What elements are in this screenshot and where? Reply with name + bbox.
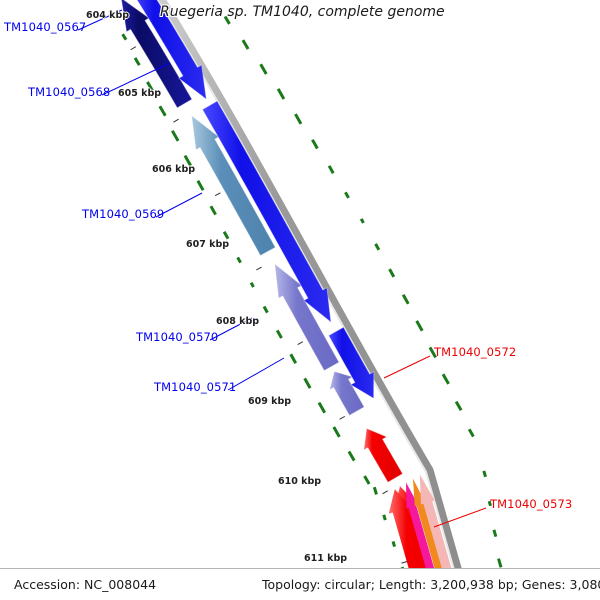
feature-dash xyxy=(319,403,325,413)
feature-dash xyxy=(484,471,486,477)
feature-dash xyxy=(305,378,310,388)
feature-dash xyxy=(295,114,301,124)
feature-dash xyxy=(251,283,253,287)
feature-dash xyxy=(211,206,216,214)
scale-tick xyxy=(340,416,345,419)
feature-dash xyxy=(312,140,317,149)
gene-label-tm1040_0568[interactable]: TM1040_0568 xyxy=(28,85,110,99)
page-title: Ruegeria sp. TM1040, complete genome xyxy=(160,4,445,20)
gene-label-tm1040_0571[interactable]: TM1040_0571 xyxy=(154,380,236,394)
feature-dash xyxy=(499,559,501,568)
gene-track-outer[interactable] xyxy=(121,0,470,600)
scale-tick-label: 604 kbp xyxy=(86,10,129,21)
status-bar: Accession: NC_008044 Topology: circular;… xyxy=(0,568,600,600)
feature-dash xyxy=(160,106,166,116)
feature-dash xyxy=(443,374,449,384)
feature-dash xyxy=(123,34,126,40)
feature-dash xyxy=(393,541,394,546)
feature-dash xyxy=(198,181,203,190)
feature-dash xyxy=(243,40,248,49)
feature-dash xyxy=(261,64,267,74)
feature-dash xyxy=(374,487,376,494)
feature-dash xyxy=(361,219,363,223)
feature-dash xyxy=(224,232,228,239)
label-leader-line xyxy=(384,356,430,378)
scale-tick-label: 607 kbp xyxy=(186,239,229,250)
genome-viewer: Ruegeria sp. TM1040, complete genome TM1… xyxy=(0,0,600,600)
scale-tick xyxy=(173,119,178,122)
feature-dash xyxy=(278,89,284,99)
feature-dash xyxy=(469,429,473,436)
scale-tick xyxy=(131,47,136,50)
feature-dash xyxy=(172,131,178,141)
feature-dash xyxy=(238,257,241,262)
scale-tick-label: 610 kbp xyxy=(278,476,321,487)
scale-tick xyxy=(383,491,388,494)
feature-dash xyxy=(291,354,296,363)
feature-dash xyxy=(376,244,379,250)
feature-dash xyxy=(384,515,386,520)
gene-feature[interactable] xyxy=(202,101,330,322)
scale-tick xyxy=(401,561,407,563)
label-leader-line xyxy=(228,358,284,390)
gene-label-tm1040_0570[interactable]: TM1040_0570 xyxy=(136,330,218,344)
accession-text: Accession: NC_008044 xyxy=(14,577,156,592)
feature-dash xyxy=(334,427,340,437)
feature-dash xyxy=(329,166,333,173)
feature-dash xyxy=(417,321,423,331)
gene-label-tm1040_0567[interactable]: TM1040_0567 xyxy=(4,20,86,34)
feature-dash xyxy=(403,295,408,304)
feature-dash xyxy=(456,402,461,411)
feature-dash xyxy=(277,330,281,338)
scale-tick-label: 605 kbp xyxy=(118,88,161,99)
feature-dash xyxy=(494,530,496,537)
scale-tick xyxy=(298,342,303,345)
genome-summary-text: Topology: circular; Length: 3,200,938 bp… xyxy=(262,577,600,592)
feature-dash xyxy=(390,269,394,277)
feature-dash xyxy=(345,192,348,198)
scale-tick-label: 611 kbp xyxy=(304,553,347,564)
gene-label-tm1040_0572[interactable]: TM1040_0572 xyxy=(434,345,516,359)
scale-tick-label: 609 kbp xyxy=(248,396,291,407)
scale-tick-label: 608 kbp xyxy=(216,316,259,327)
scale-tickmarks xyxy=(131,47,408,563)
feature-dash xyxy=(349,451,354,460)
gene-label-tm1040_0569[interactable]: TM1040_0569 xyxy=(82,207,164,221)
gene-label-tm1040_0573[interactable]: TM1040_0573 xyxy=(490,497,572,511)
feature-dash xyxy=(365,476,370,484)
scale-tick xyxy=(215,193,220,196)
feature-arc-right xyxy=(189,0,506,598)
feature-dash xyxy=(264,307,267,313)
feature-dash xyxy=(135,58,139,65)
scale-tick-label: 606 kbp xyxy=(152,164,195,175)
scale-tick xyxy=(256,267,261,270)
